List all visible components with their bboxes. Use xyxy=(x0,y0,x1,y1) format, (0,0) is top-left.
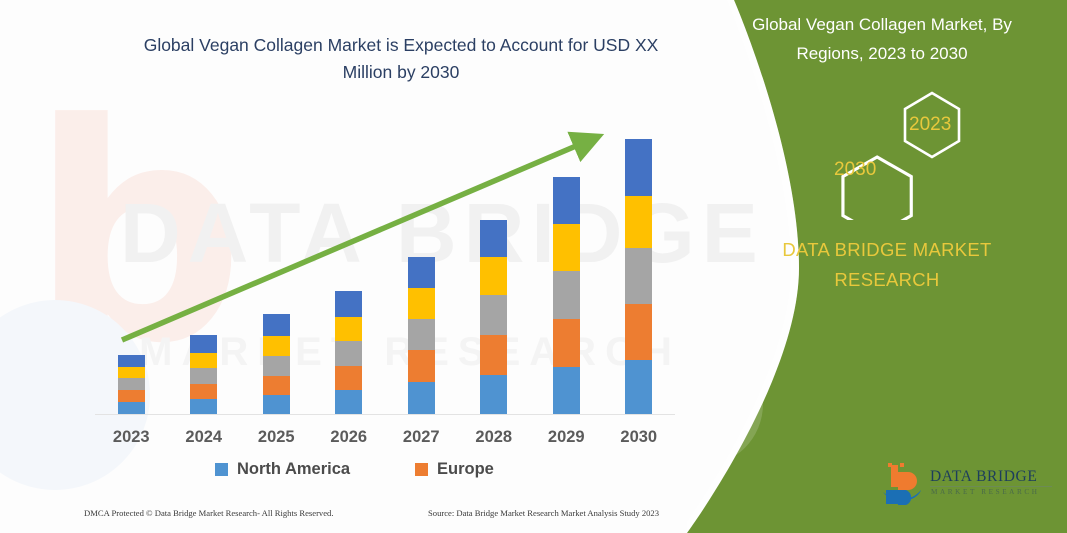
bar-segment-series-5 xyxy=(190,335,217,353)
bar-segment-europe xyxy=(408,350,435,382)
hex-label-2023: 2023 xyxy=(909,114,951,136)
bar-segment-series-4 xyxy=(625,196,652,248)
bar-segment-north-america xyxy=(625,360,652,414)
x-axis-tick-2024: 2024 xyxy=(169,428,239,447)
bar-segment-series-4 xyxy=(480,257,507,295)
bar-segment-series-5 xyxy=(263,314,290,336)
footer-copyright: DMCA Protected © Data Bridge Market Rese… xyxy=(84,508,334,518)
bar-segment-series-4 xyxy=(190,353,217,368)
bar-segment-series-4 xyxy=(335,317,362,341)
legend-item-north-america[interactable]: North America xyxy=(215,460,350,479)
bar-2026 xyxy=(335,291,362,414)
bar-segment-europe xyxy=(625,304,652,360)
bar-segment-series-3 xyxy=(625,248,652,304)
bar-segment-europe xyxy=(263,376,290,395)
bar-segment-series-4 xyxy=(553,224,580,271)
bar-segment-europe xyxy=(480,335,507,375)
chart-legend: North AmericaEurope xyxy=(95,460,675,486)
x-axis-tick-2029: 2029 xyxy=(531,428,601,447)
x-axis-tick-2030: 2030 xyxy=(604,428,674,447)
bar-segment-series-5 xyxy=(553,177,580,224)
bar-segment-series-3 xyxy=(190,368,217,384)
bar-segment-series-5 xyxy=(408,257,435,288)
bar-2023 xyxy=(118,355,145,414)
x-axis-labels: 20232024202520262027202820292030 xyxy=(95,428,675,452)
x-axis-tick-2023: 2023 xyxy=(96,428,166,447)
footer-source: Source: Data Bridge Market Research Mark… xyxy=(428,508,659,518)
bar-segment-series-5 xyxy=(335,291,362,317)
x-axis-tick-2026: 2026 xyxy=(314,428,384,447)
logo-divider xyxy=(930,486,1052,487)
bar-2024 xyxy=(190,335,217,414)
chart-plot-area xyxy=(95,120,675,415)
x-axis-tick-2025: 2025 xyxy=(241,428,311,447)
bar-segment-north-america xyxy=(553,367,580,414)
bar-segment-series-4 xyxy=(263,336,290,356)
bar-segment-series-3 xyxy=(480,295,507,335)
bar-segment-europe xyxy=(190,384,217,399)
hexagon-shapes-icon xyxy=(782,85,1012,220)
hexagon-group: 2030 2023 xyxy=(782,85,1012,220)
bar-segment-north-america xyxy=(335,390,362,414)
bar-segment-north-america xyxy=(190,399,217,414)
legend-swatch-icon xyxy=(415,463,428,476)
panel-brand-name: DATA BRIDGE MARKET RESEARCH xyxy=(737,235,1037,295)
logo-subtitle: MARKET RESEARCH xyxy=(931,488,1040,496)
x-axis-tick-2028: 2028 xyxy=(459,428,529,447)
bar-segment-north-america xyxy=(263,395,290,414)
bar-segment-north-america xyxy=(480,375,507,414)
bar-2029 xyxy=(553,177,580,414)
bar-segment-series-3 xyxy=(553,271,580,319)
bar-segment-series-3 xyxy=(335,341,362,366)
legend-swatch-icon xyxy=(215,463,228,476)
panel-title: Global Vegan Collagen Market, By Regions… xyxy=(727,10,1037,68)
right-green-panel: Global Vegan Collagen Market, By Regions… xyxy=(687,0,1067,533)
bar-segment-series-5 xyxy=(625,139,652,196)
bar-segment-north-america xyxy=(118,402,145,414)
bar-2025 xyxy=(263,314,290,414)
chart-baseline xyxy=(95,414,675,415)
slide-canvas: b DATA BRIDGE MARKET RESEARCH Global Veg… xyxy=(0,0,1067,533)
bar-segment-series-3 xyxy=(263,356,290,376)
dbmr-b-mark-icon xyxy=(878,462,924,508)
bar-segment-series-3 xyxy=(118,378,145,390)
bar-segment-europe xyxy=(118,390,145,402)
bar-2030 xyxy=(625,139,652,414)
bar-2028 xyxy=(480,220,507,414)
bar-segment-europe xyxy=(335,366,362,390)
legend-item-europe[interactable]: Europe xyxy=(415,460,494,479)
chart-title: Global Vegan Collagen Market is Expected… xyxy=(118,32,684,86)
bar-segment-series-5 xyxy=(118,355,145,367)
bar-segment-series-4 xyxy=(408,288,435,319)
dbmr-logo: DATA BRIDGE MARKET RESEARCH xyxy=(878,462,1058,508)
bar-segment-north-america xyxy=(408,382,435,414)
bar-segment-series-4 xyxy=(118,367,145,378)
logo-title: DATA BRIDGE xyxy=(930,468,1037,486)
legend-label: Europe xyxy=(437,460,494,479)
legend-label: North America xyxy=(237,460,350,479)
hex-label-2030: 2030 xyxy=(834,159,876,181)
bar-segment-europe xyxy=(553,319,580,367)
bar-segment-series-5 xyxy=(480,220,507,257)
bar-2027 xyxy=(408,257,435,414)
bar-segment-series-3 xyxy=(408,319,435,350)
x-axis-tick-2027: 2027 xyxy=(386,428,456,447)
